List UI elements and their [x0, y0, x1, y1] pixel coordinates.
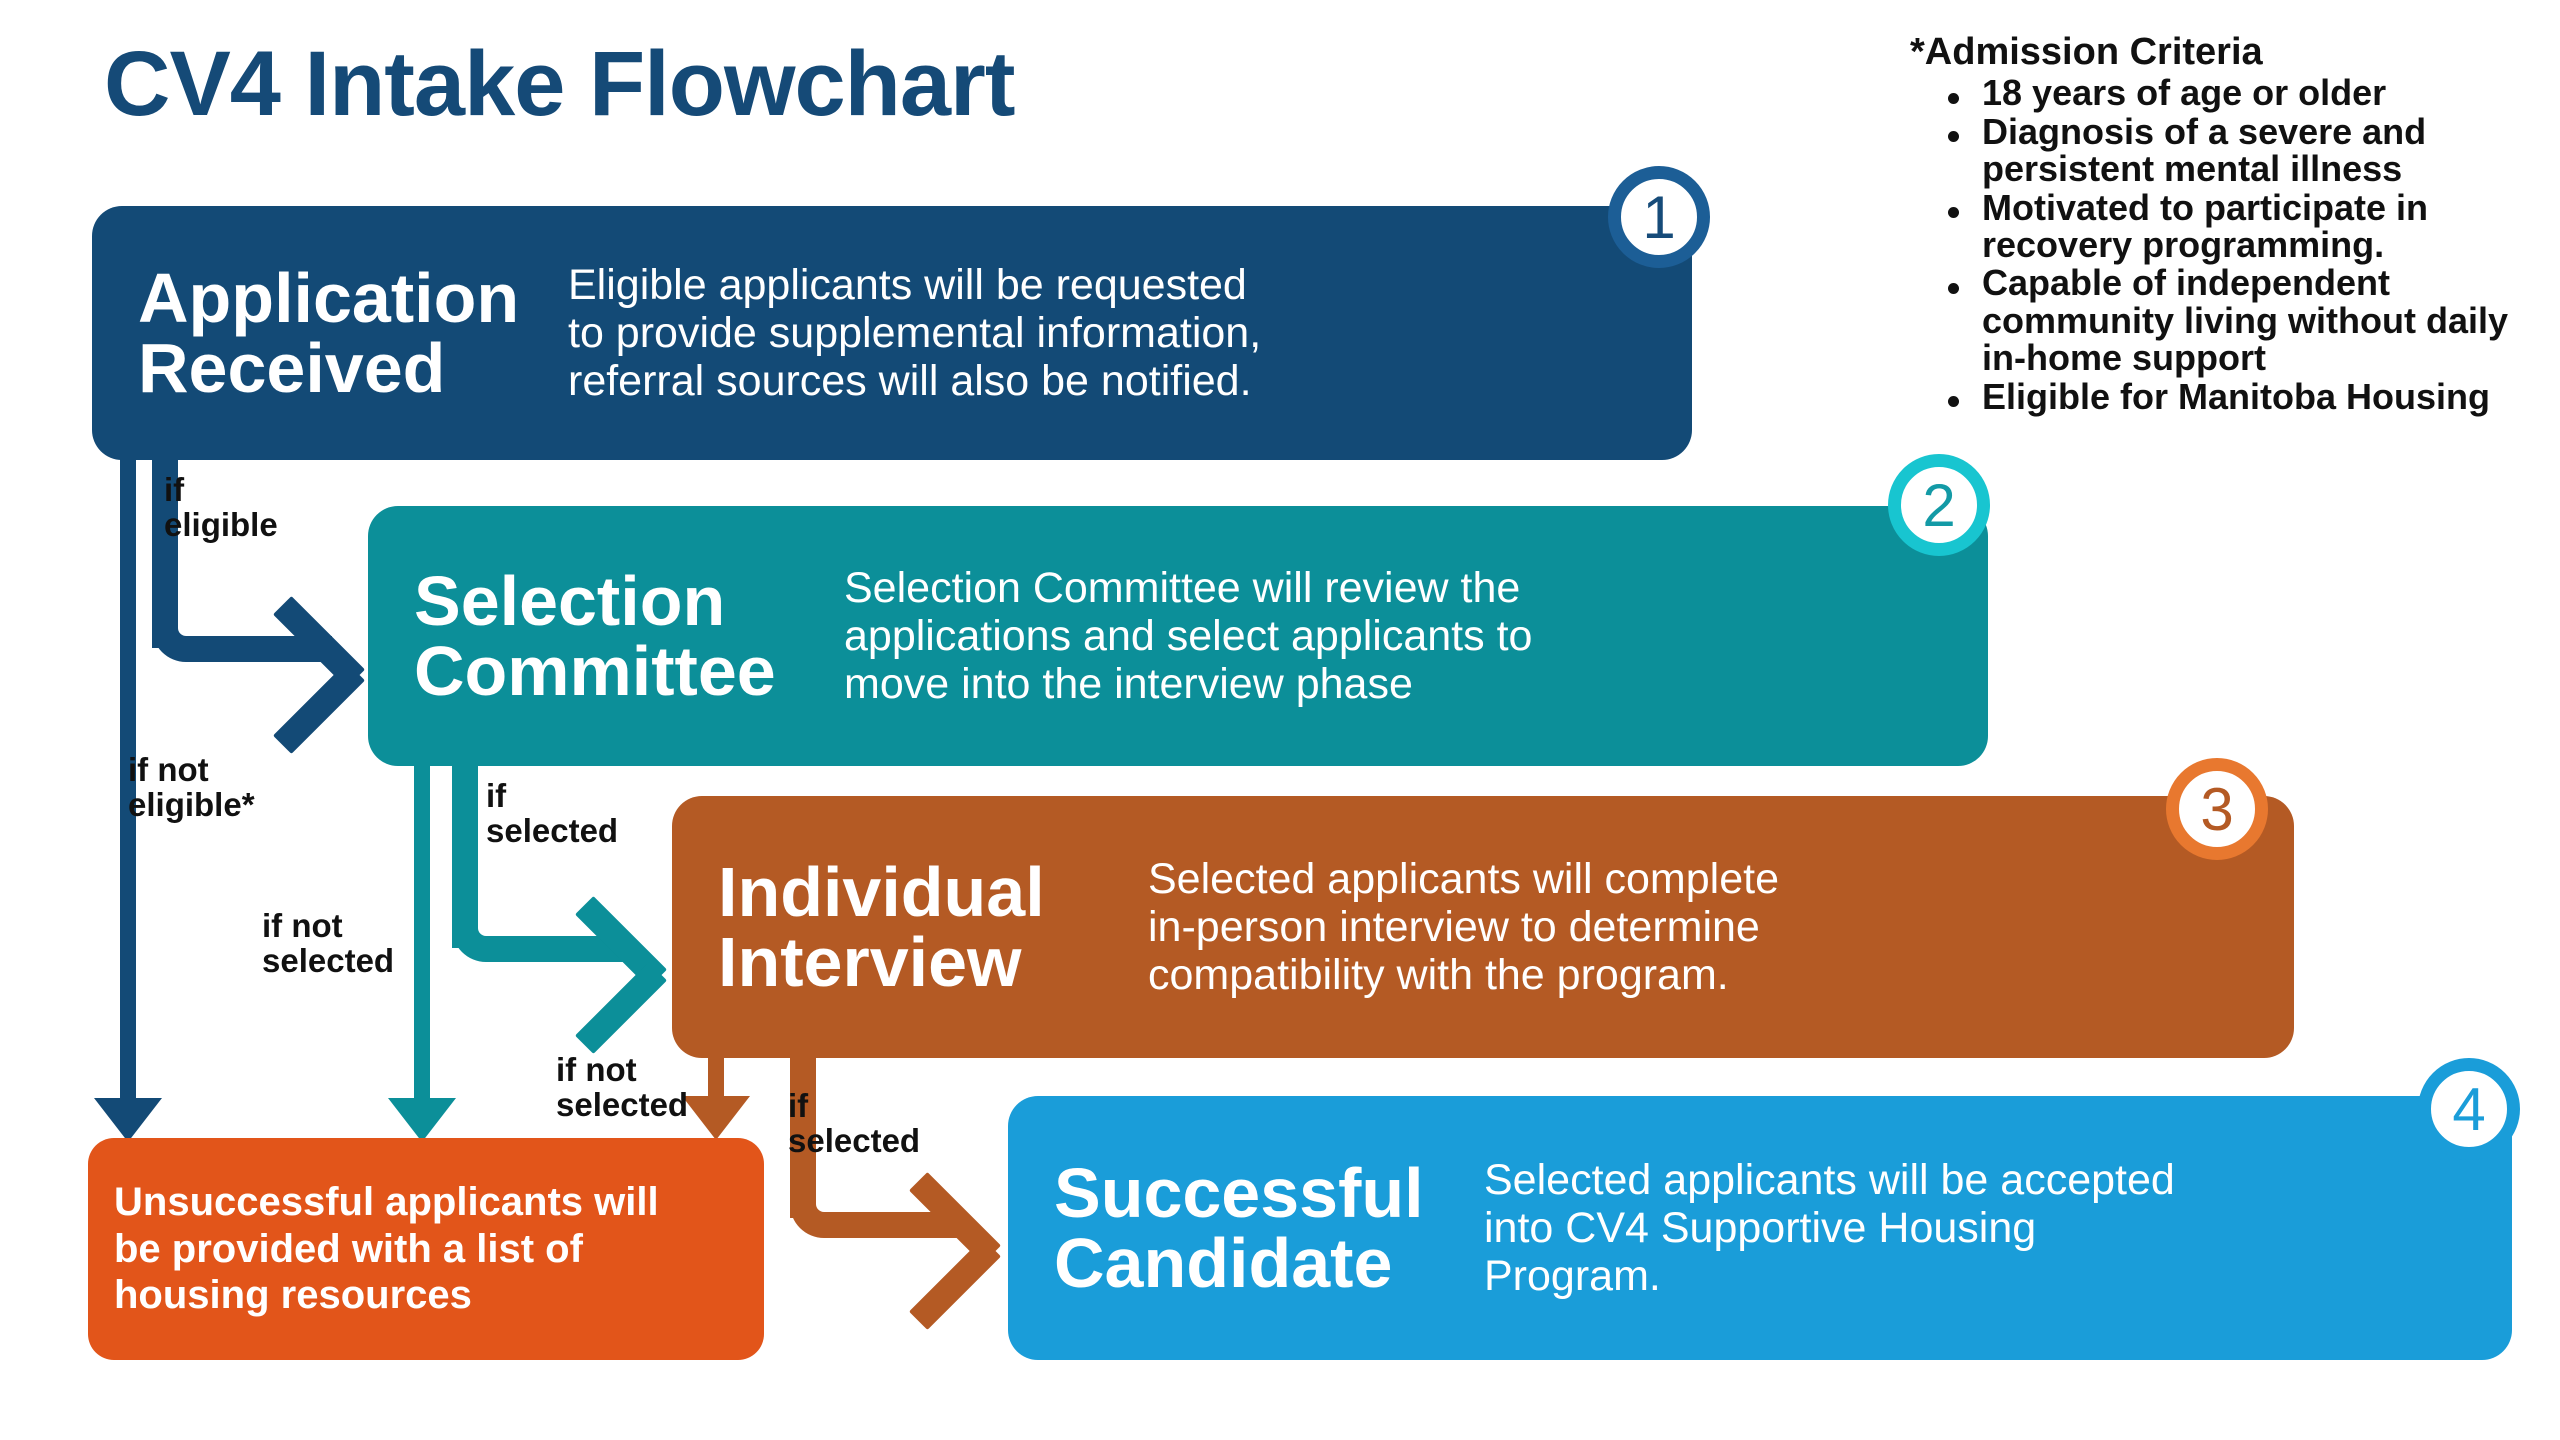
label-if-not-selected-3: if not selected [556, 1052, 688, 1123]
step-badge-1: 1 [1608, 166, 1710, 268]
page-title: CV4 Intake Flowchart [104, 38, 1014, 130]
flow-step-successful-candidate[interactable]: Successful Candidate Selected applicants… [1008, 1096, 2512, 1360]
step-description: Eligible applicants will be requested to… [568, 261, 1261, 405]
connector-brown-arrowhead-icon [682, 1096, 750, 1140]
admission-criteria-panel: *Admission Criteria 18 years of age or o… [1920, 32, 2540, 416]
criteria-text: Motivated to participate in recovery pro… [1982, 187, 2428, 265]
step-description: Selection Committee will review the appl… [844, 564, 1532, 708]
bullet-icon [1948, 283, 1959, 294]
criteria-text: Eligible for Manitoba Housing [1982, 376, 2490, 417]
step-badge-2: 2 [1888, 454, 1990, 556]
flow-step-unsuccessful-applicants[interactable]: Unsuccessful applicants will be provided… [88, 1138, 764, 1360]
connector-navy-arrowhead-icon [94, 1098, 162, 1142]
label-if-selected-2: if selected [486, 778, 618, 849]
step-title: Selection Committee [414, 566, 844, 706]
label-if-not-selected-2: if not selected [262, 908, 394, 979]
list-item: Diagnosis of a severe and persistent men… [1920, 113, 2540, 188]
bullet-icon [1948, 207, 1959, 218]
criteria-text: Diagnosis of a severe and persistent men… [1982, 111, 2426, 189]
flow-step-individual-interview[interactable]: Individual Interview Selected applicants… [672, 796, 2294, 1058]
connector-teal-elbow-corner [452, 896, 512, 962]
bullet-icon [1948, 93, 1959, 104]
list-item: Eligible for Manitoba Housing [1920, 378, 2540, 415]
admission-criteria-heading: *Admission Criteria [1910, 32, 2540, 72]
admission-criteria-list: 18 years of age or older Diagnosis of a … [1920, 74, 2540, 415]
list-item: 18 years of age or older [1920, 74, 2540, 111]
step-title: Application Received [138, 263, 568, 403]
flow-step-selection-committee[interactable]: Selection Committee Selection Committee … [368, 506, 1988, 766]
criteria-text: 18 years of age or older [1982, 72, 2386, 113]
step-description: Selected applicants will be accepted int… [1484, 1156, 2175, 1300]
step-badge-3: 3 [2166, 758, 2268, 860]
flow-step-application-received[interactable]: Application Received Eligible applicants… [92, 206, 1692, 460]
label-if-selected-3: if selected [788, 1088, 920, 1159]
label-if-eligible: if eligible [164, 472, 278, 543]
connector-brown-elbow-corner [790, 1172, 850, 1238]
bullet-icon [1948, 131, 1959, 142]
connector-teal-vertical [414, 758, 430, 1118]
step-title: Individual Interview [718, 857, 1148, 997]
list-item: Motivated to participate in recovery pro… [1920, 189, 2540, 264]
step-description: Selected applicants will complete in-per… [1148, 855, 1779, 999]
connector-teal-arrowhead-icon [388, 1098, 456, 1142]
reject-description: Unsuccessful applicants will be provided… [114, 1179, 659, 1318]
step-title: Successful Candidate [1054, 1158, 1484, 1298]
list-item: Capable of independent community living … [1920, 264, 2540, 376]
criteria-text: Capable of independent community living … [1982, 262, 2508, 378]
connector-navy-elbow-corner [152, 596, 212, 662]
step-badge-4: 4 [2418, 1058, 2520, 1160]
label-if-not-eligible: if not eligible* [128, 752, 255, 823]
bullet-icon [1948, 396, 1959, 407]
